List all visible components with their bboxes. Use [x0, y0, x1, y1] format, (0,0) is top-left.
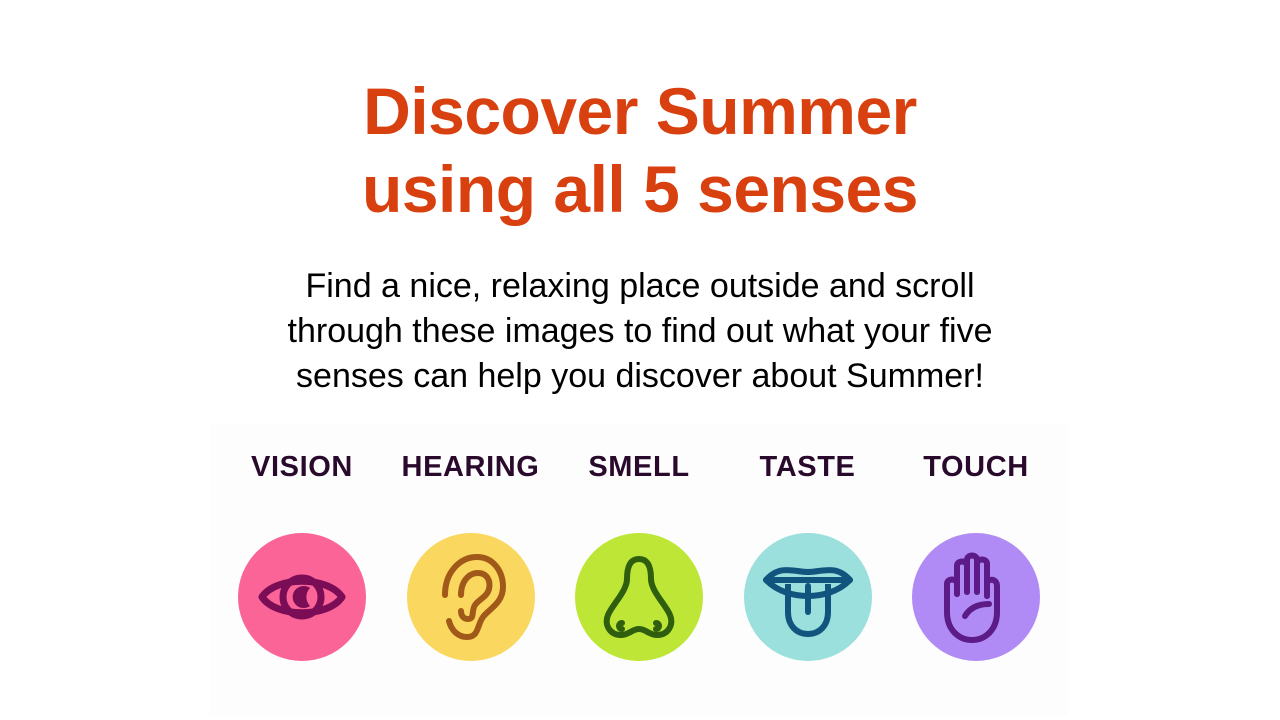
- instruction-paragraph: Find a nice, relaxing place outside and …: [230, 264, 1050, 399]
- five-senses-image: VISION HEARING: [210, 425, 1068, 715]
- sense-label-smell: SMELL: [588, 451, 689, 483]
- eye-icon: [256, 565, 348, 629]
- five-senses-row: VISION HEARING: [210, 425, 1068, 715]
- hand-icon: [935, 550, 1017, 644]
- sense-label-touch: TOUCH: [923, 451, 1029, 483]
- sense-label-hearing: HEARING: [402, 451, 540, 483]
- sense-label-vision: VISION: [251, 451, 353, 483]
- sense-circle-smell: [575, 533, 703, 661]
- sense-circle-hearing: [407, 533, 535, 661]
- sense-item-taste: TASTE: [734, 425, 882, 661]
- sense-item-touch: TOUCH: [902, 425, 1050, 661]
- sense-item-hearing: HEARING: [397, 425, 545, 661]
- sense-item-smell: SMELL: [565, 425, 713, 661]
- slide-canvas: Discover Summer using all 5 senses Find …: [0, 0, 1280, 720]
- ear-icon: [433, 551, 509, 643]
- title-line-2: using all 5 senses: [0, 150, 1280, 228]
- sense-item-vision: VISION: [228, 425, 376, 661]
- instruction-line-3: senses can help you discover about Summe…: [230, 354, 1050, 399]
- sense-circle-taste: [744, 533, 872, 661]
- title-line-1: Discover Summer: [0, 72, 1280, 150]
- mouth-tongue-icon: [760, 554, 856, 640]
- sense-circle-vision: [238, 533, 366, 661]
- page-title: Discover Summer using all 5 senses: [0, 72, 1280, 228]
- nose-icon: [596, 553, 682, 641]
- instruction-line-1: Find a nice, relaxing place outside and …: [230, 264, 1050, 309]
- sense-label-taste: TASTE: [760, 451, 856, 483]
- instruction-line-2: through these images to find out what yo…: [230, 309, 1050, 354]
- sense-circle-touch: [912, 533, 1040, 661]
